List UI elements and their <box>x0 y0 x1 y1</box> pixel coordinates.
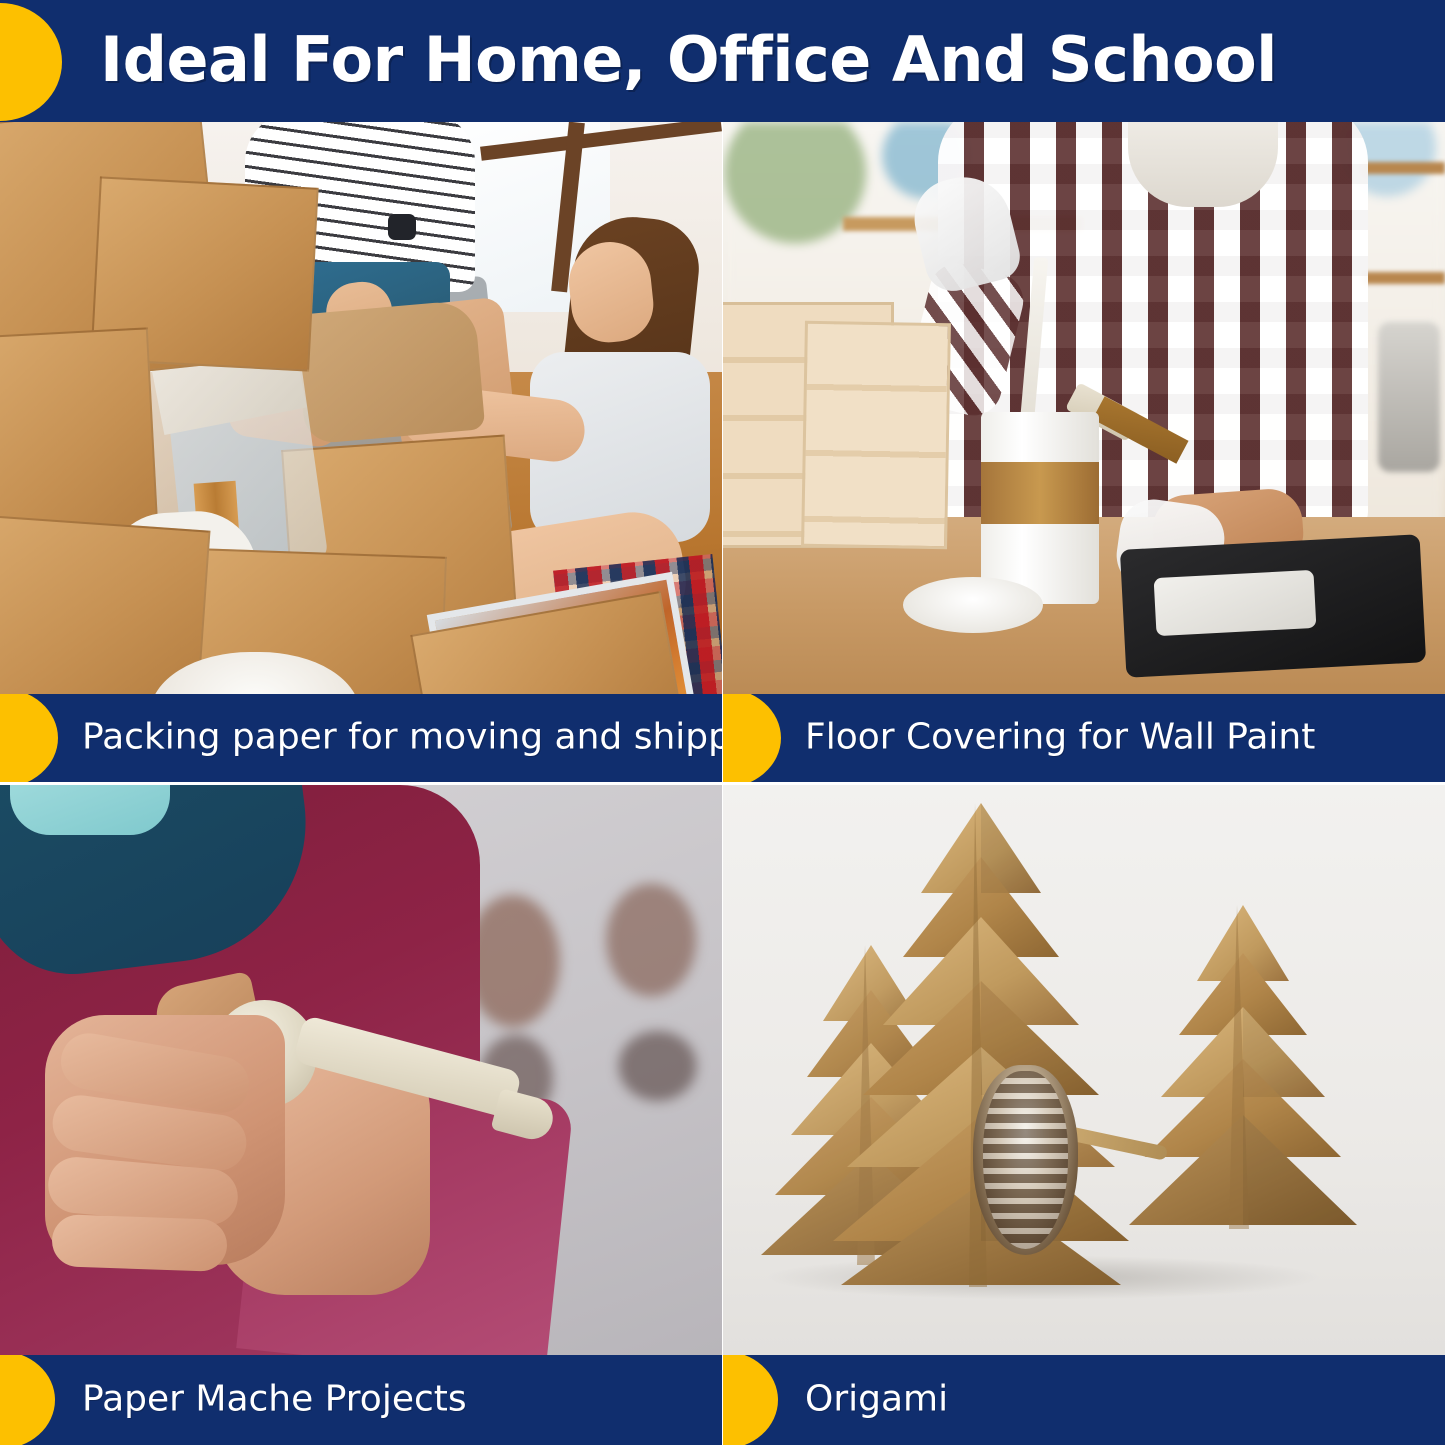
feature-grid: Packing paper for moving and shipping <box>0 122 1445 1445</box>
origami-caption-label: Origami <box>805 1381 948 1417</box>
origami-trees-illustration <box>723 785 1445 1355</box>
origami-caption-bar: Origami <box>723 1355 1445 1445</box>
header-banner: Ideal For Home, Office And School <box>0 0 1445 122</box>
paper-mache-caption-label: Paper Mache Projects <box>82 1381 467 1417</box>
header-accent-circle-icon <box>0 3 62 121</box>
packing-caption-label: Packing paper for moving and shipping <box>82 719 722 755</box>
page-title: Ideal For Home, Office And School <box>100 29 1277 91</box>
floor-covering-photo <box>723 122 1445 694</box>
product-infographic: Ideal For Home, Office And School <box>0 0 1445 1445</box>
caption-accent-circle-icon <box>0 1355 55 1445</box>
paper-mache-caption-bar: Paper Mache Projects <box>0 1355 722 1445</box>
caption-accent-circle-icon <box>0 694 58 782</box>
floor-covering-caption-label: Floor Covering for Wall Paint <box>805 719 1315 755</box>
feature-panel-paper-mache: Paper Mache Projects <box>0 785 722 1445</box>
feature-panel-packing: Packing paper for moving and shipping <box>0 122 722 782</box>
packing-photo <box>0 122 722 694</box>
caption-accent-circle-icon <box>723 694 781 782</box>
origami-photo <box>723 785 1445 1355</box>
feature-panel-origami: Origami <box>723 785 1445 1445</box>
paper-mache-photo <box>0 785 722 1355</box>
packing-caption-bar: Packing paper for moving and shipping <box>0 694 722 782</box>
floor-covering-caption-bar: Floor Covering for Wall Paint <box>723 694 1445 782</box>
feature-panel-floor-covering: Floor Covering for Wall Paint <box>723 122 1445 782</box>
caption-accent-circle-icon <box>723 1355 778 1445</box>
